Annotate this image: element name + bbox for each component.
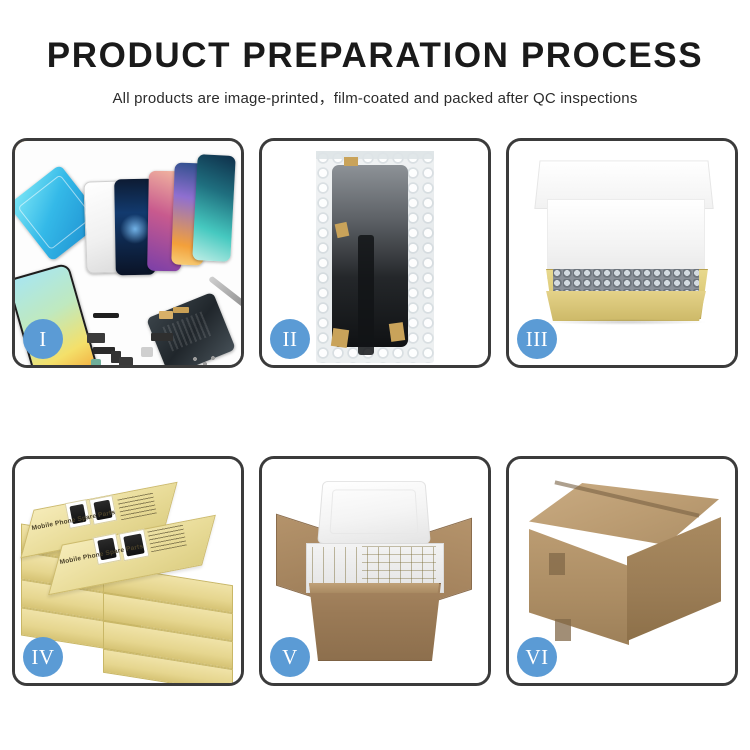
wrapped-screen-image	[332, 165, 408, 347]
foam-sheet-image	[547, 199, 705, 279]
page-title: PRODUCT PREPARATION PROCESS	[0, 38, 750, 75]
carton-body-image	[300, 583, 450, 661]
small-part-1	[87, 333, 105, 343]
product-preparation-page: PRODUCT PREPARATION PROCESS All products…	[0, 0, 750, 750]
process-step-panel-2: II	[259, 138, 491, 368]
step-badge-6: VI	[517, 637, 557, 677]
step-badge-4: IV	[23, 637, 63, 677]
bag-seal	[316, 151, 434, 159]
screws-image	[191, 355, 217, 365]
teal-screen-image	[192, 154, 235, 262]
carton-tape-1	[549, 553, 565, 575]
small-part-6	[91, 359, 101, 365]
carton-rim	[300, 583, 448, 593]
inner-boxes-row-2	[362, 545, 436, 587]
small-part-7	[119, 357, 133, 365]
step-badge-1: I	[23, 319, 63, 359]
page-header: PRODUCT PREPARATION PROCESS All products…	[0, 0, 750, 108]
process-step-panel-4: Mobile Phone Spare Parts Mobile Phone Sp…	[12, 456, 244, 686]
process-step-panel-6: VI	[506, 456, 738, 686]
process-step-grid: I II	[12, 138, 738, 686]
tape-piece-2	[335, 222, 350, 238]
step-badge-2: II	[270, 319, 310, 359]
tape-piece-1	[344, 157, 358, 166]
step-badge-3: III	[517, 319, 557, 359]
process-step-panel-5: V	[259, 456, 491, 686]
tape-piece-3	[331, 328, 349, 348]
page-subtitle: All products are image-printed，film-coat…	[0, 87, 750, 108]
small-part-5	[173, 307, 189, 313]
flex-cable-part	[93, 313, 119, 318]
screen-flex-cable	[358, 235, 374, 355]
small-part-9	[151, 333, 173, 341]
box-shadow	[545, 319, 707, 325]
process-step-panel-1: I	[12, 138, 244, 368]
small-part-4	[159, 311, 173, 319]
small-part-8	[141, 347, 153, 357]
step-badge-5: V	[270, 637, 310, 677]
tape-piece-4	[389, 322, 405, 342]
carton-tape-2	[555, 619, 571, 641]
process-step-panel-3: III	[506, 138, 738, 368]
foam-lid-image	[317, 481, 431, 544]
yellow-box-front-image	[541, 291, 711, 321]
bubble-wrap-bag-image	[316, 151, 434, 363]
